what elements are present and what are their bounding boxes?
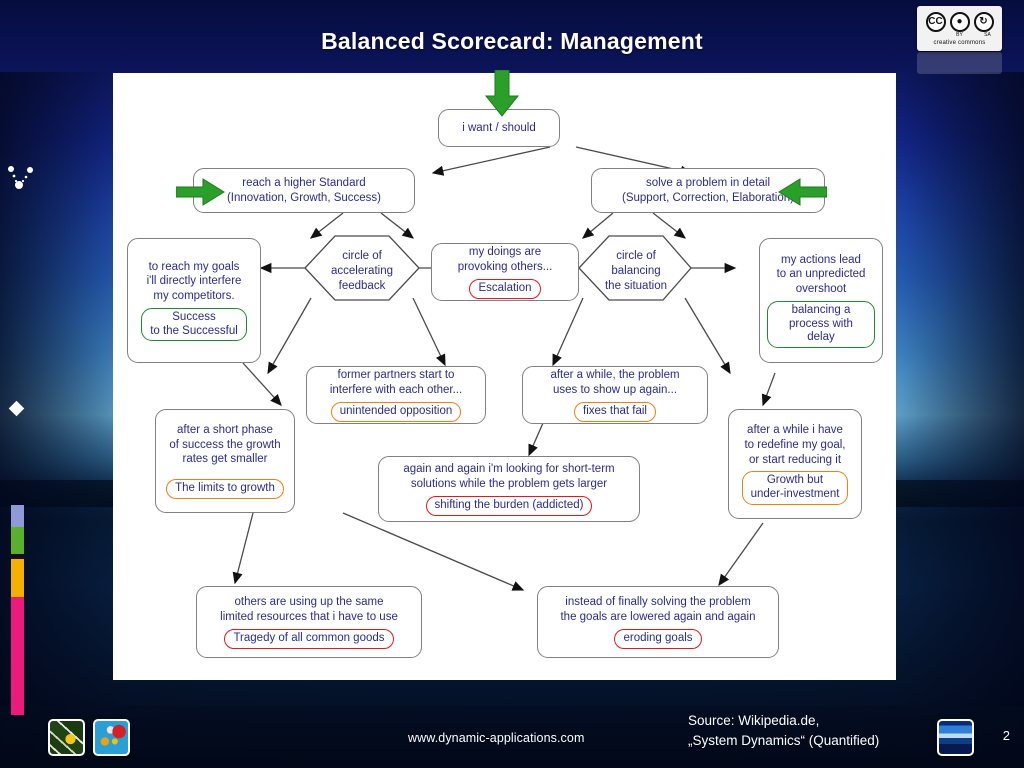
node-body: instead of finally solving the problem t… [560,595,755,624]
node-problem-shows-up-again[interactable]: after a while, the problem uses to show … [522,366,708,424]
hexagon-label-accelerating-feedback: circle of accelerating feedback [319,249,405,294]
cc-sa-label: SA [976,32,1000,38]
node-body: others are using up the same limited res… [220,595,398,624]
cc-spacer [920,32,944,38]
footer-source-credit: Source: Wikipedia.de, „System Dynamics“ … [688,711,879,752]
node-body: after a short phase of success the growt… [169,423,280,467]
system-diagram: circle of accelerating feedback circle o… [113,73,896,680]
node-former-partners-interfere[interactable]: former partners start to interfere with … [306,366,486,424]
node-unpredicted-overshoot[interactable]: my actions lead to an unpredicted oversh… [759,238,883,363]
green-arrow-right-icon [176,177,226,207]
hexagon-label-balancing-situation: circle of balancing the situation [593,249,679,294]
node-body: after a while i have to redefine my goal… [744,423,845,467]
node-growth-rates-get-smaller[interactable]: after a short phase of success the growt… [155,409,295,513]
thumbnail-seascape-image[interactable] [937,719,974,756]
green-arrow-down-icon [484,70,520,118]
node-tag-tragedy-of-commons: Tragedy of all common goods [224,629,393,649]
node-limited-resources[interactable]: others are using up the same limited res… [196,586,422,658]
cc-icon: CC [926,12,946,32]
node-reach-higher-standard[interactable]: reach a higher Standard (Innovation, Gro… [193,168,415,213]
node-body: i want / should [462,121,536,136]
thumbnail-world-map-image[interactable] [93,719,130,756]
node-tag-eroding-goals: eroding goals [614,629,701,649]
diamond-decoration [9,401,25,417]
cc-by-icon: ● [950,12,970,32]
node-interfere-competitors[interactable]: to reach my goals i'll directly interfer… [127,238,261,363]
node-redefine-my-goal[interactable]: after a while i have to redefine my goal… [728,409,862,519]
source-line-1: Source: Wikipedia.de, [688,711,879,731]
page-title: Balanced Scorecard: Management [0,28,1024,55]
cc-sa-icon: ↻ [974,12,994,32]
node-body: my actions lead to an unpredicted oversh… [777,253,866,297]
node-body: former partners start to interfere with … [330,368,462,397]
source-line-2: „System Dynamics“ (Quantified) [688,731,879,751]
color-bar-decoration [11,505,24,715]
green-arrow-left-icon [777,177,827,207]
node-tag-balancing-process-with-delay: balancing a process with delay [767,301,875,348]
license-badge-reflection [917,52,1002,74]
page-number: 2 [1003,728,1010,743]
node-body: my doings are provoking others... [458,245,553,274]
node-body: after a while, the problem uses to show … [550,368,679,397]
node-provoking-others[interactable]: my doings are provoking others... Escala… [431,243,579,301]
slide-canvas: Balanced Scorecard: Management CC ● ↻ BY… [0,0,1024,768]
node-body: solve a problem in detail (Support, Corr… [622,176,794,205]
node-body: again and again i'm looking for short-te… [403,462,614,491]
thumbnail-plant-image[interactable] [48,719,85,756]
v-marks-decoration [8,166,34,192]
cc-text-label: creative commons [934,40,986,46]
node-body: reach a higher Standard (Innovation, Gro… [227,176,381,205]
node-goals-lowered[interactable]: instead of finally solving the problem t… [537,586,779,658]
node-short-term-solutions[interactable]: again and again i'm looking for short-te… [378,456,640,522]
footer-website-url[interactable]: www.dynamic-applications.com [408,731,584,745]
node-tag-shifting-the-burden: shifting the burden (addicted) [426,496,593,516]
creative-commons-badge: CC ● ↻ BY SA creative commons [917,6,1002,51]
node-body: to reach my goals i'll directly interfer… [147,260,242,304]
node-tag-success-to-the-successful: Success to the Successful [141,308,247,342]
node-tag-growth-but-under-investment: Growth but under-investment [742,471,849,505]
node-tag-limits-to-growth: The limits to growth [166,479,284,499]
cc-by-label: BY [948,32,972,38]
node-tag-fixes-that-fail: fixes that fail [574,402,656,422]
node-tag-unintended-opposition: unintended opposition [331,402,462,422]
node-tag-escalation: Escalation [469,279,540,299]
diagram-card: circle of accelerating feedback circle o… [113,73,896,680]
